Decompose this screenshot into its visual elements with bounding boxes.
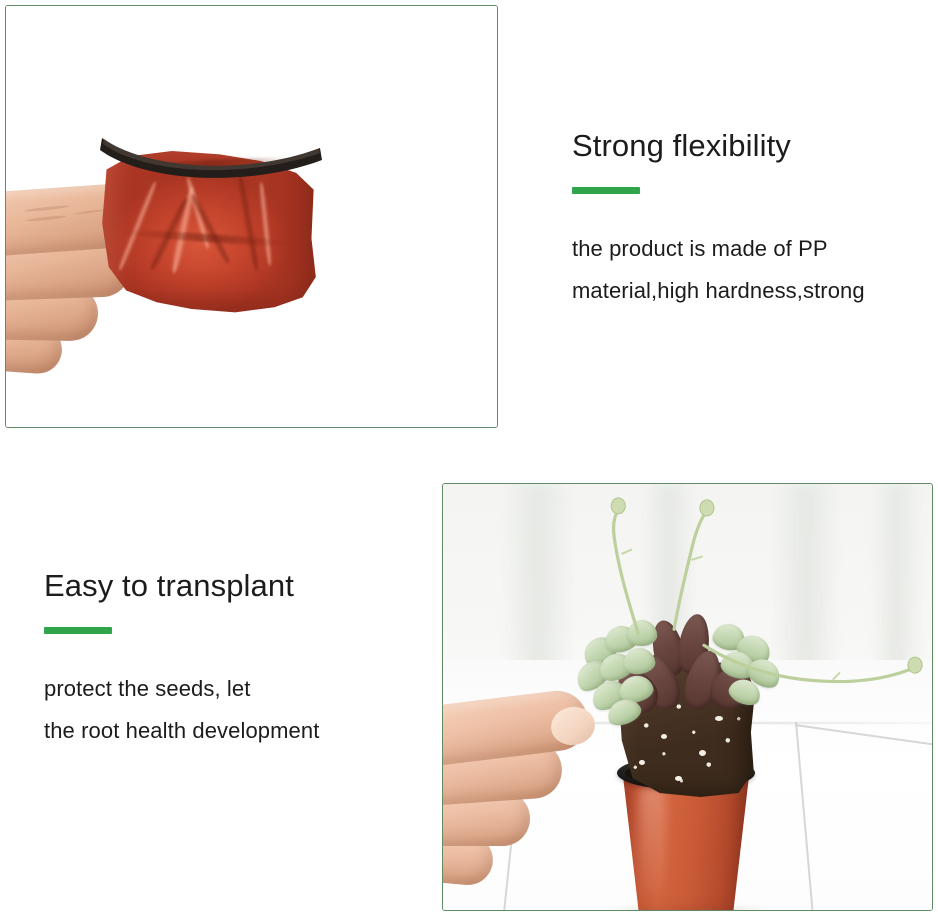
transplant-photo-frame [442,483,933,911]
perlite-fleck [675,776,682,781]
feature-description-easy-to-transplant: protect the seeds, let the root health d… [44,668,394,752]
perlite-fleck [699,750,706,756]
description-line: material,high hardness,strong [572,270,922,312]
feature-description-strong-flexibility: the product is made of PP material,high … [572,228,922,312]
accent-underline-bar [572,187,640,194]
perlite-fleck [661,734,667,739]
description-line: the root health development [44,710,394,752]
description-line: the product is made of PP [572,228,922,270]
product-feature-page: Strong flexibility the product is made o… [0,0,938,916]
accent-underline-bar [44,627,112,634]
description-line: protect the seeds, let [44,668,394,710]
succulent-transplant-photo [443,484,932,910]
easy-to-transplant-text-block: Easy to transplant protect the seeds, le… [44,568,394,752]
perlite-fleck [639,760,645,765]
pot-highlight [639,784,665,894]
strong-flexibility-text-block: Strong flexibility the product is made o… [572,128,922,312]
pot-dark-rim [96,126,326,184]
flexible-pot-photo-frame [5,5,498,428]
succulent-plant [561,602,811,732]
flexible-nursery-pot [94,124,324,319]
flexible-pot-photo [6,6,497,427]
feature-title-strong-flexibility: Strong flexibility [572,128,922,165]
feature-title-easy-to-transplant: Easy to transplant [44,568,394,605]
